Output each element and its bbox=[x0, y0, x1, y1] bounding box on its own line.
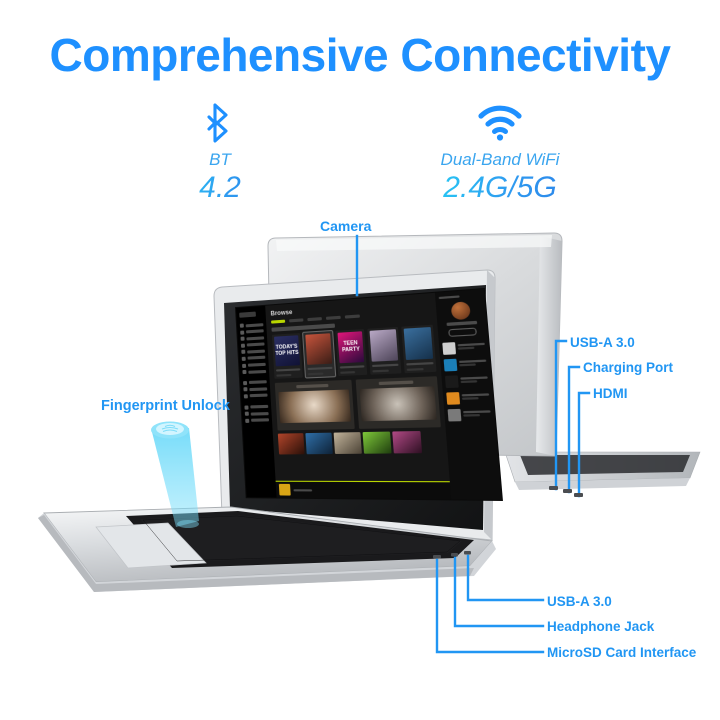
panel-title bbox=[439, 295, 460, 299]
nav-icon bbox=[241, 337, 245, 341]
playlist-card[interactable]: TODAY'S TOP HITS bbox=[272, 333, 303, 379]
panel-controls[interactable] bbox=[439, 294, 481, 299]
nav-icon bbox=[242, 363, 246, 367]
sidebar-playlist[interactable] bbox=[244, 404, 268, 409]
callout-microsd-card-interface: MicroSD Card Interface bbox=[547, 645, 696, 660]
feature-banner-row bbox=[275, 376, 441, 430]
tab-discover[interactable] bbox=[345, 314, 360, 318]
callout-charging-port: Charging Port bbox=[583, 360, 673, 375]
sidebar-playlist[interactable] bbox=[245, 418, 269, 423]
music-app: Browse TODAY'S TOP HITS bbox=[236, 289, 502, 500]
tab-overview[interactable] bbox=[271, 320, 285, 324]
sidebar-playlist[interactable] bbox=[243, 380, 267, 385]
card-artwork: TODAY'S TOP HITS bbox=[274, 335, 300, 366]
sidebar-item[interactable] bbox=[242, 362, 266, 367]
tab-genres[interactable] bbox=[307, 317, 322, 321]
callout-fingerprint-unlock: Fingerprint Unlock bbox=[101, 398, 230, 414]
playlist-card[interactable] bbox=[303, 331, 335, 377]
sidebar-item[interactable] bbox=[242, 369, 266, 374]
feature-banner[interactable] bbox=[275, 380, 354, 431]
tab-charts[interactable] bbox=[289, 318, 303, 322]
playlist-card[interactable] bbox=[368, 327, 402, 375]
follow-button[interactable] bbox=[448, 327, 476, 336]
banner-artwork bbox=[278, 389, 350, 423]
card-artwork bbox=[370, 329, 398, 362]
thumbnail[interactable] bbox=[278, 433, 305, 454]
sidebar-playlist[interactable] bbox=[245, 411, 269, 416]
playlist-card[interactable] bbox=[401, 325, 436, 373]
friend-artwork bbox=[444, 358, 458, 371]
playlist-icon bbox=[244, 394, 248, 398]
card-artwork-text: TEEN PARTY bbox=[338, 341, 364, 354]
friend-row[interactable] bbox=[446, 390, 490, 404]
now-playing-bar[interactable] bbox=[276, 481, 452, 500]
thumbnail[interactable] bbox=[334, 432, 362, 454]
product-infographic: Comprehensive Connectivity BT 4.2 bbox=[0, 0, 720, 720]
now-playing-title bbox=[293, 489, 312, 491]
thumbnail-strip bbox=[278, 431, 443, 455]
sidebar-item[interactable] bbox=[241, 336, 265, 341]
friend-artwork bbox=[445, 375, 459, 388]
nav-icon bbox=[242, 370, 246, 374]
playlist-icon bbox=[243, 381, 247, 385]
nav-icon bbox=[242, 357, 246, 361]
callout-usb-a-3-right: USB-A 3.0 bbox=[570, 335, 635, 350]
callout-camera: Camera bbox=[320, 218, 371, 234]
sidebar-item[interactable] bbox=[240, 329, 264, 335]
card-artwork: TEEN PARTY bbox=[337, 331, 365, 363]
playlist-icon bbox=[243, 387, 247, 391]
thumbnail[interactable] bbox=[392, 431, 422, 453]
profile-name bbox=[447, 321, 477, 326]
friend-row[interactable] bbox=[442, 340, 485, 354]
sidebar-item[interactable] bbox=[241, 342, 265, 347]
nav-icon bbox=[240, 323, 244, 327]
banner-artwork bbox=[359, 386, 437, 421]
now-playing-artwork bbox=[279, 484, 291, 496]
friend-artwork bbox=[442, 342, 456, 355]
sidebar-item[interactable] bbox=[240, 322, 264, 328]
sidebar-playlist[interactable] bbox=[243, 387, 267, 392]
nav-icon bbox=[241, 343, 245, 347]
playlist-icon bbox=[245, 418, 249, 422]
tab-new-releases[interactable] bbox=[326, 316, 341, 320]
nav-icon bbox=[241, 350, 245, 354]
card-artwork-text: TODAY'S TOP HITS bbox=[275, 345, 300, 357]
sidebar-playlist[interactable] bbox=[244, 393, 268, 398]
app-logo bbox=[239, 312, 256, 318]
browse-panel: Browse TODAY'S TOP HITS bbox=[265, 293, 451, 499]
friend-row[interactable] bbox=[445, 374, 489, 388]
callout-headphone-jack: Headphone Jack bbox=[547, 619, 654, 634]
card-artwork bbox=[305, 333, 332, 365]
playlist-icon bbox=[245, 412, 249, 416]
playlist-card-teen-party[interactable]: TEEN PARTY bbox=[335, 329, 368, 376]
avatar[interactable] bbox=[451, 301, 471, 320]
sidebar-item[interactable] bbox=[242, 356, 266, 361]
card-row: TODAY'S TOP HITS TEEN PARTY bbox=[272, 325, 437, 379]
laptop-screen: Browse TODAY'S TOP HITS bbox=[236, 289, 502, 500]
thumbnail[interactable] bbox=[363, 432, 392, 454]
friend-artwork bbox=[448, 408, 462, 421]
thumbnail[interactable] bbox=[305, 433, 333, 455]
sidebar-item[interactable] bbox=[241, 349, 265, 354]
playlist-icon bbox=[244, 405, 248, 409]
friend-row[interactable] bbox=[448, 407, 492, 420]
friend-row[interactable] bbox=[444, 357, 487, 371]
card-artwork bbox=[404, 327, 433, 360]
nav-icon bbox=[240, 330, 244, 334]
callout-usb-a-3-bottom: USB-A 3.0 bbox=[547, 594, 612, 609]
callout-hdmi: HDMI bbox=[593, 386, 628, 401]
friend-artwork bbox=[446, 392, 460, 405]
feature-banner[interactable] bbox=[355, 376, 441, 429]
